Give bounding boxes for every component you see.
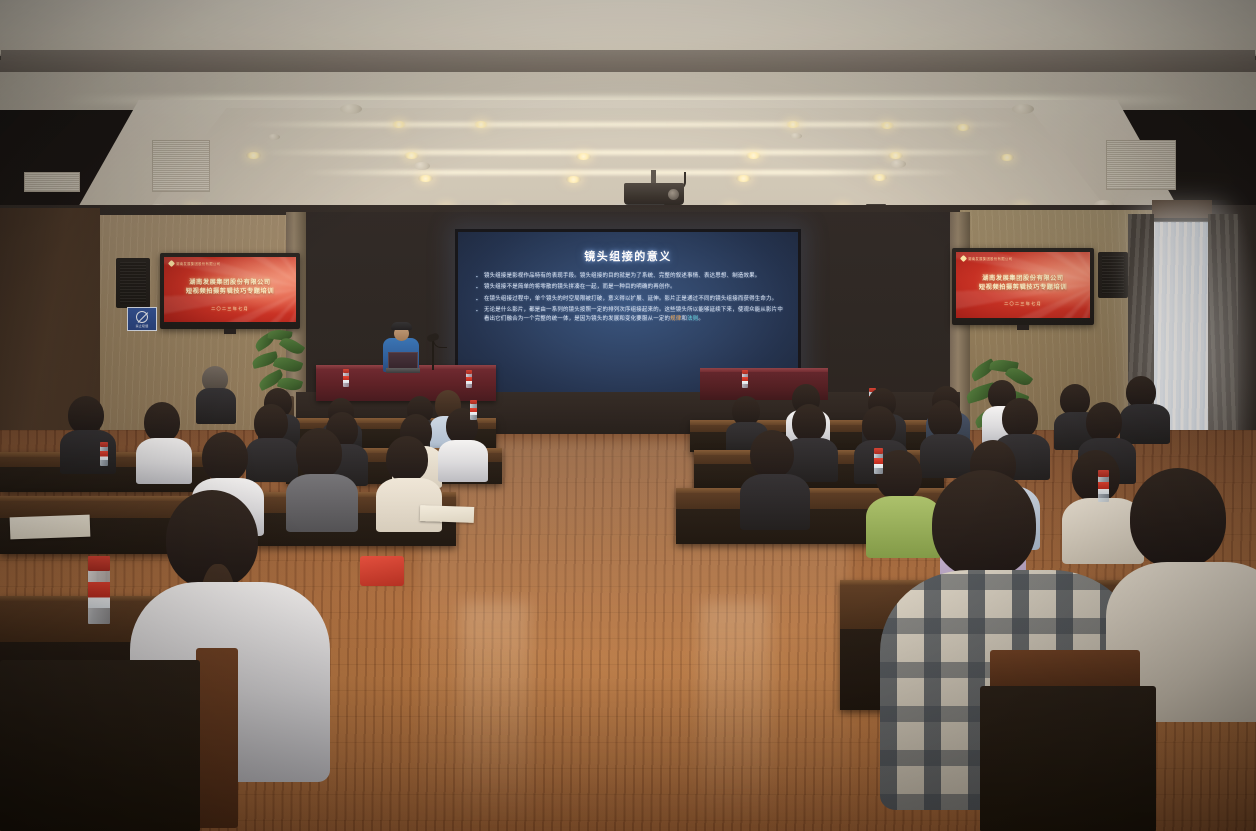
ceiling-downlight — [880, 122, 894, 129]
person-torso — [1120, 404, 1170, 444]
projector-mount-rod — [651, 170, 656, 184]
slide-bullet: 镜头组接是影视作品特有的表现手段。镜头组接的目的就是为了系统、完整的叙述事情、表… — [476, 272, 784, 281]
person-head — [202, 432, 248, 482]
slide-highlight-b: 法则 — [687, 316, 698, 322]
right-led-logo-text: 湖南发展集团股份有限公司 — [968, 256, 1012, 261]
person-torso — [866, 496, 942, 558]
right-led-heading-line2: 短视频拍摄剪辑技巧专题培训 — [956, 283, 1090, 292]
person-torso — [136, 438, 192, 484]
chair-frame[interactable] — [196, 648, 238, 828]
ceiling-downlight — [418, 175, 433, 182]
left-led-date: 二〇二三年七月 — [164, 306, 296, 312]
person-head — [254, 404, 288, 442]
right-wall-speaker — [1098, 252, 1128, 298]
person-torso — [740, 474, 810, 530]
person-torso — [246, 438, 298, 482]
bottle-cap — [466, 370, 472, 374]
person-head — [928, 400, 962, 438]
ceiling-downlight — [566, 176, 581, 183]
slide-text-segment: 。 — [698, 316, 704, 322]
ceiling-air-vent — [1106, 140, 1176, 190]
right-led-display: 湖南发展集团股份有限公司 湖南发展集团股份有限公司 短视频拍摄剪辑技巧专题培训 … — [952, 248, 1094, 325]
person-torso — [286, 474, 358, 532]
bottle-label — [466, 377, 472, 384]
plant-leaf — [279, 334, 306, 357]
chair-frame[interactable] — [990, 650, 1140, 690]
ceiling-smoke-detector — [414, 162, 430, 170]
bottle-cap — [343, 369, 349, 373]
ceiling-air-vent — [152, 140, 210, 192]
left-led-logo-text: 湖南发展集团股份有限公司 — [176, 261, 220, 266]
slide-text-segment: 无论是什么影片，都是由一系列的镜头按照一定的排列次序组接起来的。这些镜头所以能够… — [484, 307, 783, 322]
person-torso — [196, 388, 236, 424]
side-table-top — [700, 368, 828, 372]
water-bottle[interactable] — [874, 448, 883, 474]
right-led-screen: 湖南发展集团股份有限公司 湖南发展集团股份有限公司 短视频拍摄剪辑技巧专题培训 … — [956, 252, 1090, 318]
right-led-date: 二〇二三年七月 — [956, 301, 1090, 307]
person-head — [1002, 398, 1038, 438]
ceiling-air-vent — [24, 172, 80, 192]
left-led-screen: 湖南发展集团股份有限公司 湖南发展集团股份有限公司 短视频拍摄剪辑技巧专题培训 … — [164, 257, 296, 322]
left-led-heading-line2: 短视频拍摄剪辑技巧专题培训 — [164, 287, 296, 296]
person-head — [296, 428, 342, 478]
document-paper[interactable] — [10, 515, 91, 540]
slide-bullet: 镜头组接不是简单的将零散的镜头拼凑在一起，而是一种目的明确的再创作。 — [476, 283, 784, 292]
document-paper[interactable] — [420, 505, 475, 523]
no-smoking-sign: 禁止吸烟 — [127, 307, 157, 331]
ceiling-downlight — [576, 153, 591, 160]
left-led-logo: 湖南发展集团股份有限公司 — [169, 261, 220, 266]
right-led-heading: 湖南发展集团股份有限公司 短视频拍摄剪辑技巧专题培训 — [956, 274, 1090, 292]
ceiling-downlight — [474, 121, 488, 128]
ceiling-downlight — [246, 152, 261, 159]
person-head — [68, 396, 104, 434]
left-led-heading-line1: 湖南发展集团股份有限公司 — [164, 278, 296, 287]
ceiling-projector — [624, 183, 684, 205]
slide-bullet: 在镜头组接过程中，单个镜头的时空局限被打破，意义得以扩展、延伸。影片正是通过不同… — [476, 295, 784, 304]
no-smoking-label: 禁止吸烟 — [136, 324, 149, 328]
cove-light-strip — [240, 122, 1020, 127]
ceiling-dome-light — [1012, 104, 1034, 114]
no-smoking-icon — [136, 311, 148, 323]
person-head — [386, 436, 428, 482]
ceiling-downlight — [736, 175, 751, 182]
ceiling-downlight — [392, 121, 406, 128]
ceiling-sprinkler — [790, 133, 802, 139]
bottle-label — [100, 451, 108, 460]
chair-back[interactable] — [980, 686, 1156, 831]
person-head — [862, 406, 896, 444]
left-wall-speaker — [116, 258, 150, 308]
red-object — [360, 556, 404, 586]
bottle-label — [343, 376, 349, 383]
water-bottle[interactable] — [343, 369, 349, 387]
left-led-display: 湖南发展集团股份有限公司 湖南发展集团股份有限公司 短视频拍摄剪辑技巧专题培训 … — [160, 253, 300, 329]
right-led-heading-line1: 湖南发展集团股份有限公司 — [956, 274, 1090, 283]
person-head — [750, 430, 794, 478]
right-led-stand — [1017, 325, 1028, 330]
water-bottle[interactable] — [742, 370, 748, 388]
water-bottle[interactable] — [88, 556, 110, 624]
person-head — [792, 404, 826, 442]
company-logo-icon — [960, 255, 967, 262]
ceiling-smoke-detector — [890, 160, 906, 168]
ceiling-downlight — [786, 121, 800, 128]
ceiling-downlight — [1000, 154, 1014, 161]
chair-back[interactable] — [0, 660, 200, 831]
presenter-laptop-screen[interactable] — [388, 352, 418, 369]
slide-body: 镜头组接是影视作品特有的表现手段。镜头组接的目的就是为了系统、完整的叙述事情、表… — [476, 272, 784, 326]
bottle-cap — [100, 442, 108, 447]
bottle-cap — [470, 400, 477, 404]
bottle-cap — [742, 370, 748, 374]
slide-title: 镜头组接的意义 — [458, 248, 798, 264]
right-led-logo: 湖南发展集团股份有限公司 — [961, 256, 1012, 261]
left-led-stand — [224, 329, 235, 334]
person-head — [1072, 450, 1120, 502]
bottle-label — [1098, 482, 1109, 494]
water-bottle[interactable] — [466, 370, 472, 388]
conference-room-scene: 镜头组接的意义 镜头组接是影视作品特有的表现手段。镜头组接的目的就是为了系统、完… — [0, 0, 1256, 831]
ceiling-upper-slab — [0, 0, 1256, 56]
ceiling-downlight — [746, 152, 761, 159]
presenter-cap — [391, 322, 412, 330]
person-head — [1086, 402, 1122, 442]
bottle-cap — [874, 448, 883, 454]
bottle-label — [742, 377, 748, 384]
person-head — [932, 470, 1036, 578]
person-head — [1130, 468, 1226, 568]
bottle-cap — [1098, 470, 1109, 477]
bottle-label — [874, 458, 883, 468]
person-torso — [438, 440, 488, 482]
person-head — [144, 402, 180, 442]
bottle-label — [470, 408, 477, 416]
water-bottle[interactable] — [1098, 470, 1109, 502]
left-led-heading: 湖南发展集团股份有限公司 短视频拍摄剪辑技巧专题培训 — [164, 278, 296, 296]
slide-highlight-a: 规律 — [670, 316, 681, 322]
presenter-laptop-base[interactable] — [386, 368, 420, 373]
bottle-cap — [88, 556, 110, 571]
ceiling-downlight — [888, 152, 903, 159]
water-bottle[interactable] — [470, 400, 477, 420]
water-bottle[interactable] — [100, 442, 108, 466]
person-torso — [920, 434, 974, 478]
floor-light-reflection — [700, 601, 770, 831]
bottle-label — [88, 582, 110, 608]
ceiling-sprinkler — [268, 134, 280, 140]
ceiling-dome-light — [340, 104, 362, 114]
ceiling-downlight — [404, 152, 419, 159]
slide-bullet-highlighted: 无论是什么影片，都是由一系列的镜头按照一定的排列次序组接起来的。这些镜头所以能够… — [476, 306, 784, 325]
ceiling-downlight — [872, 174, 887, 181]
floor-light-reflection — [460, 601, 530, 831]
ceiling-downlight — [956, 124, 970, 131]
cove-light-strip — [300, 170, 960, 175]
company-logo-icon — [168, 260, 175, 267]
